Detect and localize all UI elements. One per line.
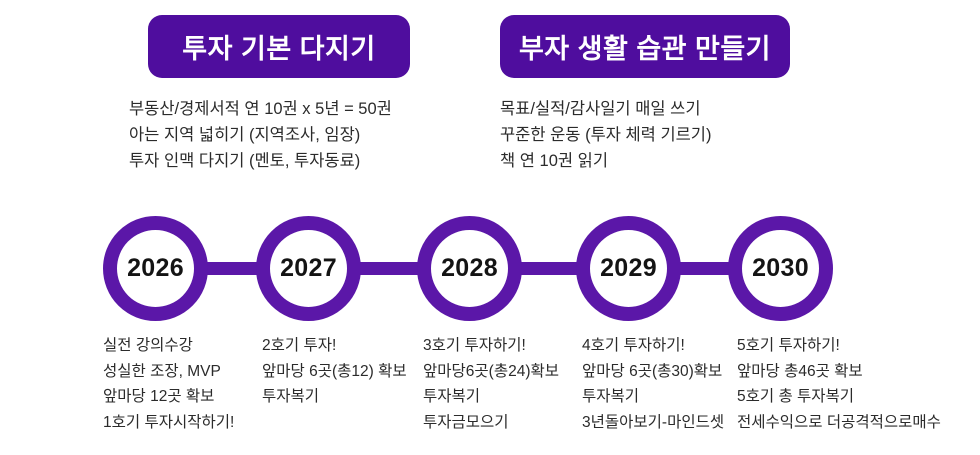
timeline-node-2027: 2027 xyxy=(256,216,361,321)
detail-column-2028: 3호기 투자하기! 앞마당6곳(총24)확보 투자복기 투자금모으기 xyxy=(423,333,559,435)
detail-line: 투자복기 xyxy=(582,384,724,410)
detail-line: 투자금모으기 xyxy=(423,410,559,436)
timeline-node-year: 2027 xyxy=(280,254,337,283)
detail-line: 앞마당6곳(총24)확보 xyxy=(423,359,559,385)
note-line: 목표/실적/감사일기 매일 쓰기 xyxy=(500,96,712,122)
timeline-node-year: 2026 xyxy=(127,254,184,283)
detail-line: 2호기 투자! xyxy=(262,333,407,359)
timeline-node-2026: 2026 xyxy=(103,216,208,321)
timeline-node-2028: 2028 xyxy=(417,216,522,321)
detail-line: 앞마당 총46곳 확보 xyxy=(737,359,941,385)
infographic-canvas: 투자 기본 다지기 부자 생활 습관 만들기 부동산/경제서적 연 10권 x … xyxy=(0,0,980,455)
section-badge-label: 투자 기본 다지기 xyxy=(182,27,375,66)
timeline-node-2029: 2029 xyxy=(576,216,681,321)
detail-line: 앞마당 6곳(총30)확보 xyxy=(582,359,724,385)
timeline-node-year: 2028 xyxy=(441,254,498,283)
detail-line: 4호기 투자하기! xyxy=(582,333,724,359)
timeline-connector-2029-2030 xyxy=(674,262,734,275)
detail-column-2029: 4호기 투자하기! 앞마당 6곳(총30)확보 투자복기 3년돌아보기-마인드셋 xyxy=(582,333,724,435)
timeline-connector-2026-2027 xyxy=(200,262,262,275)
note-line: 투자 인맥 다지기 (멘토, 투자동료) xyxy=(129,148,392,174)
note-block-investment-basics: 부동산/경제서적 연 10권 x 5년 = 50권 아는 지역 넓히기 (지역조… xyxy=(129,96,392,174)
note-block-rich-habits: 목표/실적/감사일기 매일 쓰기 꾸준한 운동 (투자 체력 기르기) 책 연 … xyxy=(500,96,712,174)
detail-line: 3년돌아보기-마인드셋 xyxy=(582,410,724,436)
timeline-node-year: 2029 xyxy=(600,254,657,283)
note-line: 아는 지역 넓히기 (지역조사, 임장) xyxy=(129,122,392,148)
note-line: 꾸준한 운동 (투자 체력 기르기) xyxy=(500,122,712,148)
timeline-connector-2027-2028 xyxy=(355,262,423,275)
timeline-node-year: 2030 xyxy=(752,254,809,283)
detail-line: 투자복기 xyxy=(423,384,559,410)
detail-column-2027: 2호기 투자! 앞마당 6곳(총12) 확보 투자복기 xyxy=(262,333,407,410)
detail-line: 앞마당 6곳(총12) 확보 xyxy=(262,359,407,385)
detail-line: 앞마당 12곳 확보 xyxy=(103,384,234,410)
timeline-node-2030: 2030 xyxy=(728,216,833,321)
note-line: 책 연 10권 읽기 xyxy=(500,148,712,174)
section-badge-investment-basics: 투자 기본 다지기 xyxy=(148,15,410,78)
detail-line: 투자복기 xyxy=(262,384,407,410)
section-badge-rich-habits: 부자 생활 습관 만들기 xyxy=(500,15,790,78)
note-line: 부동산/경제서적 연 10권 x 5년 = 50권 xyxy=(129,96,392,122)
timeline-connector-2028-2029 xyxy=(516,262,582,275)
detail-line: 1호기 투자시작하기! xyxy=(103,410,234,436)
detail-line: 5호기 투자하기! xyxy=(737,333,941,359)
detail-column-2026: 실전 강의수강 성실한 조장, MVP 앞마당 12곳 확보 1호기 투자시작하… xyxy=(103,333,234,435)
detail-line: 전세수익으로 더공격적으로매수 xyxy=(737,410,941,436)
detail-line: 3호기 투자하기! xyxy=(423,333,559,359)
section-badge-label: 부자 생활 습관 만들기 xyxy=(519,27,771,66)
detail-line: 5호기 총 투자복기 xyxy=(737,384,941,410)
detail-line: 성실한 조장, MVP xyxy=(103,359,234,385)
detail-column-2030: 5호기 투자하기! 앞마당 총46곳 확보 5호기 총 투자복기 전세수익으로 … xyxy=(737,333,941,435)
detail-line: 실전 강의수강 xyxy=(103,333,234,359)
